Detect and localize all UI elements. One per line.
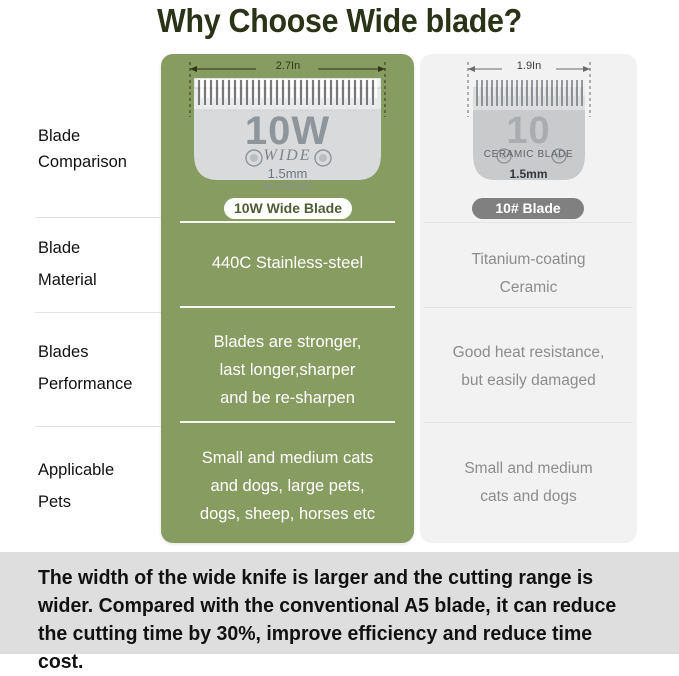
row-label-line1: Applicable <box>38 457 163 483</box>
wide-blade-image: 2.7In 10W WIDE 1.5mm BESTBOMG 10W Wide B… <box>161 54 414 219</box>
green-row-separator <box>180 221 395 223</box>
wide-blade-sub-text: WIDE <box>161 147 414 165</box>
wide-blade-pill-label: 10W Wide Blade <box>224 198 352 219</box>
row-label-line2: Material <box>38 267 163 293</box>
cell-line: but easily damaged <box>420 367 637 395</box>
cell-line: Ceramic <box>420 274 637 302</box>
row-label-line1: Blade <box>38 123 163 149</box>
cell-line: and be re-sharpen <box>161 384 414 412</box>
green-row-separator <box>180 306 395 308</box>
row-divider <box>35 217 161 218</box>
row-label-line2: Performance <box>38 371 163 397</box>
wide-blade-brand-text: BESTBOMG <box>161 182 414 191</box>
row-divider <box>35 312 161 313</box>
ceramic-blade-pill-label: 10# Blade <box>472 198 584 219</box>
wide-blade-dimension-label: 2.7In <box>257 60 319 72</box>
row-label-blades-performance: Blades Performance <box>38 339 163 397</box>
row-label-blade-material: Blade Material <box>38 235 163 293</box>
cell-line: last longer,sharper <box>161 356 414 384</box>
cell-line: 440C Stainless-steel <box>161 249 414 277</box>
footer-text: The width of the wide knife is larger an… <box>38 564 622 676</box>
cell-gray-performance: Good heat resistance, but easily damaged <box>420 339 637 395</box>
green-row-separator <box>180 421 395 423</box>
cell-line: and dogs, large pets, <box>161 472 414 500</box>
ceramic-blade-dimension-label: 1.9In <box>502 60 556 72</box>
gray-row-separator <box>424 222 633 223</box>
ceramic-blade-image: 1.9In 10 CERAMIC BLADE 1.5mm 10# Blade <box>420 54 637 219</box>
row-label-line2: Comparison <box>38 149 163 175</box>
row-label-column: Blade Comparison Blade Material Blades P… <box>0 54 161 543</box>
gray-row-separator <box>424 422 633 423</box>
ceramic-blade-sub-text: CERAMIC BLADE <box>420 149 637 160</box>
row-label-line1: Blade <box>38 235 163 261</box>
comparison-table: Blade Comparison Blade Material Blades P… <box>0 54 679 546</box>
cell-line: Titanium-coating <box>420 246 637 274</box>
cell-green-material: 440C Stainless-steel <box>161 249 414 277</box>
row-label-applicable-pets: Applicable Pets <box>38 457 163 515</box>
cell-line: Blades are stronger, <box>161 328 414 356</box>
cell-line: Small and medium cats <box>161 444 414 472</box>
cell-line: Good heat resistance, <box>420 339 637 367</box>
row-label-blade-comparison: Blade Comparison <box>38 123 163 175</box>
cell-line: cats and dogs <box>420 483 637 511</box>
ceramic-blade-model-text: 10 <box>420 110 637 153</box>
gray-row-separator <box>424 307 633 308</box>
page-title: Why Choose Wide blade? <box>27 2 652 40</box>
infographic-page: Why Choose Wide blade? Blade Comparison … <box>0 0 679 654</box>
cell-gray-pets: Small and medium cats and dogs <box>420 455 637 511</box>
row-divider <box>35 426 161 427</box>
row-label-line1: Blades <box>38 339 163 365</box>
ceramic-blade-thickness-text: 1.5mm <box>420 167 637 181</box>
footer-banner: The width of the wide knife is larger an… <box>0 552 679 654</box>
cell-green-performance: Blades are stronger, last longer,sharper… <box>161 328 414 412</box>
wide-blade-thickness-text: 1.5mm <box>161 166 414 181</box>
row-label-line2: Pets <box>38 489 163 515</box>
cell-line: dogs, sheep, horses etc <box>161 500 414 528</box>
cell-green-pets: Small and medium cats and dogs, large pe… <box>161 444 414 528</box>
cell-gray-material: Titanium-coating Ceramic <box>420 246 637 302</box>
cell-line: Small and medium <box>420 455 637 483</box>
